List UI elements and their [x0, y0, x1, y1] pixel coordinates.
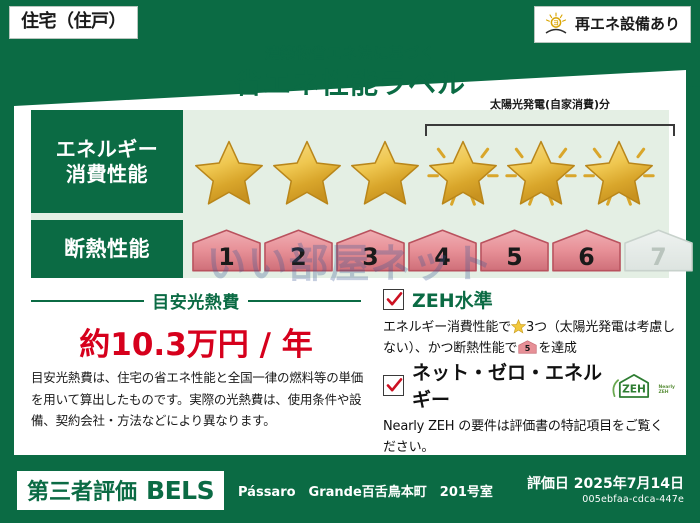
utility-cost-note: 目安光熱費は、住宅の省エネ性能と全国一律の燃料等の単価を用いて算出したものです。…: [31, 367, 367, 432]
insulation-level-number: 6: [578, 243, 594, 271]
zeh-standard-title: ZEH水準: [412, 286, 493, 313]
net-zero-energy-block: ネット・ゼロ・エネルギー ZEH Nearly ZEH Nearly ZEH の…: [383, 358, 675, 459]
house-grade-icon: 7: [623, 228, 694, 272]
insulation-level-number: 5: [506, 243, 522, 271]
zeh-logo-sub-line2: ZEH: [658, 391, 675, 396]
inline-house-icon: 5: [518, 340, 537, 354]
solar-sun-icon: ヨ: [543, 12, 569, 36]
energy-performance-row: エネルギー 消費性能 太陽光発電(自家消費)分: [31, 110, 669, 213]
star-icon: [269, 134, 345, 208]
insulation-level-number: 7: [650, 243, 666, 271]
zeh-house-logo-icon: ZEH: [611, 372, 657, 399]
label-footer: 第三者評価 BELS Pássaro Grande百舌鳥本町 201号室 評価日…: [0, 463, 700, 523]
energy-tag-line1: エネルギー: [56, 137, 159, 162]
zeh-standard-body: エネルギー消費性能で3つ（太陽光発電は考慮しない）、かつ断熱性能で5を達成: [383, 317, 675, 360]
star-icon: [191, 134, 267, 208]
star-rating-area: 太陽光発電(自家消費)分: [183, 110, 669, 213]
zeh-body-text-1: エネルギー消費性能で: [383, 320, 511, 335]
zeh-body-text-3: を達成: [538, 341, 576, 356]
check-icon: [385, 290, 404, 309]
net-zero-title: ネット・ゼロ・エネルギー: [412, 358, 603, 412]
energy-tag-line2: 消費性能: [56, 162, 159, 187]
performance-panel: エネルギー 消費性能 太陽光発電(自家消費)分 断熱性能 1234567: [31, 110, 669, 278]
utility-cost-block: 目安光熱費 約10.3万円 / 年: [31, 288, 361, 364]
evaluation-id: 005ebfaa-cdca-447e: [582, 494, 684, 505]
net-zero-header: ネット・ゼロ・エネルギー ZEH Nearly ZEH: [383, 358, 675, 412]
house-grade-icon: 4: [407, 228, 478, 272]
inline-star-icon: [511, 319, 526, 334]
house-grade-icon: 6: [551, 228, 622, 272]
insulation-level-number: 2: [290, 243, 306, 271]
house-grade-icon: 1: [191, 228, 262, 272]
energy-performance-label: 住宅（住戸） ヨ 再エネ設備あり 建築物省エネ法に基づく 省エネ性能ラベル: [0, 0, 700, 523]
bels-badge-en: BELS: [146, 476, 214, 505]
insulation-level-number: 3: [362, 243, 378, 271]
check-icon: [385, 376, 404, 395]
insulation-performance-tag: 断熱性能: [31, 220, 183, 278]
svg-text:ZEH: ZEH: [623, 382, 647, 395]
cost-divider-left: [31, 300, 144, 302]
evaluation-date: 評価日 2025年7月14日: [527, 473, 684, 493]
insulation-performance-row: 断熱性能 1234567: [31, 220, 669, 278]
house-type-chip-label: 住宅（住戸）: [21, 11, 126, 32]
zeh-standard-header: ZEH水準: [383, 286, 675, 313]
solar-bracket-label: 太陽光発電(自家消費)分: [419, 96, 681, 112]
star-icon: [347, 134, 423, 208]
star-list: [191, 134, 657, 208]
insulation-level-number: 1: [218, 243, 234, 271]
svg-text:5: 5: [525, 344, 531, 353]
svg-text:ヨ: ヨ: [553, 20, 559, 27]
renewable-energy-chip: ヨ 再エネ設備あり: [534, 6, 691, 43]
property-name: Pássaro Grande百舌鳥本町 201号室: [238, 481, 493, 500]
zeh-logo: ZEH Nearly ZEH: [611, 372, 675, 399]
insulation-scale-area: 1234567: [183, 220, 669, 278]
star-icon: [425, 134, 501, 208]
label-subtitle: 建築物省エネ法に基づく: [0, 42, 700, 63]
house-grade-icon: 3: [335, 228, 406, 272]
renewable-energy-chip-label: 再エネ設備あり: [575, 16, 680, 33]
star-icon: [503, 134, 579, 208]
house-grade-icon: 5: [479, 228, 550, 272]
utility-cost-header: 目安光熱費: [31, 288, 361, 313]
zeh-standard-checkbox[interactable]: [383, 289, 404, 310]
star-icon: [581, 134, 657, 208]
bels-badge: 第三者評価 BELS: [17, 471, 224, 510]
insulation-level-list: 1234567: [191, 228, 694, 272]
energy-performance-tag: エネルギー 消費性能: [31, 110, 183, 213]
net-zero-body: Nearly ZEH の要件は評価書の特記項目をご覧ください。: [383, 416, 675, 459]
net-zero-checkbox[interactable]: [383, 375, 404, 396]
utility-cost-value: 約10.3万円 / 年: [31, 319, 361, 364]
house-grade-icon: 2: [263, 228, 334, 272]
zeh-standard-block: ZEH水準 エネルギー消費性能で3つ（太陽光発電は考慮しない）、かつ断熱性能で5…: [383, 286, 675, 360]
house-type-chip: 住宅（住戸）: [9, 6, 138, 39]
bels-badge-jp: 第三者評価: [27, 474, 137, 506]
utility-cost-title: 目安光熱費: [152, 288, 240, 313]
zeh-logo-subtext: Nearly ZEH: [658, 386, 675, 398]
cost-divider-right: [248, 300, 361, 302]
insulation-level-number: 4: [434, 243, 450, 271]
